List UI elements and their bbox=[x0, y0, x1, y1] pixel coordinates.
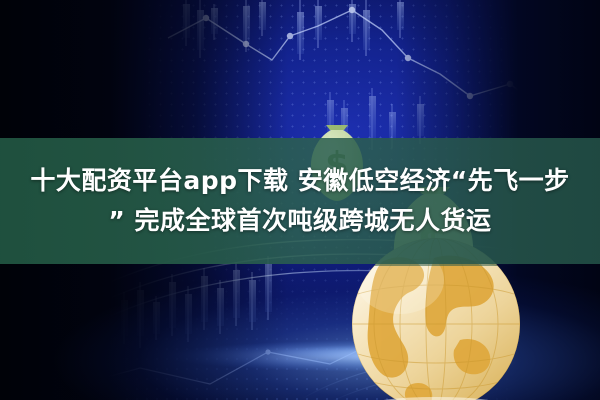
headline-line-2: ” 完成全球首次吨级跨城无人货运 bbox=[108, 201, 491, 241]
headline-line-1: 十大配资平台app下载 安徽低空经济“先飞一步 bbox=[30, 161, 569, 201]
banner-image: $ $ bbox=[0, 0, 600, 400]
headline-band: 十大配资平台app下载 安徽低空经济“先飞一步 ” 完成全球首次吨级跨城无人货运 bbox=[0, 138, 600, 264]
